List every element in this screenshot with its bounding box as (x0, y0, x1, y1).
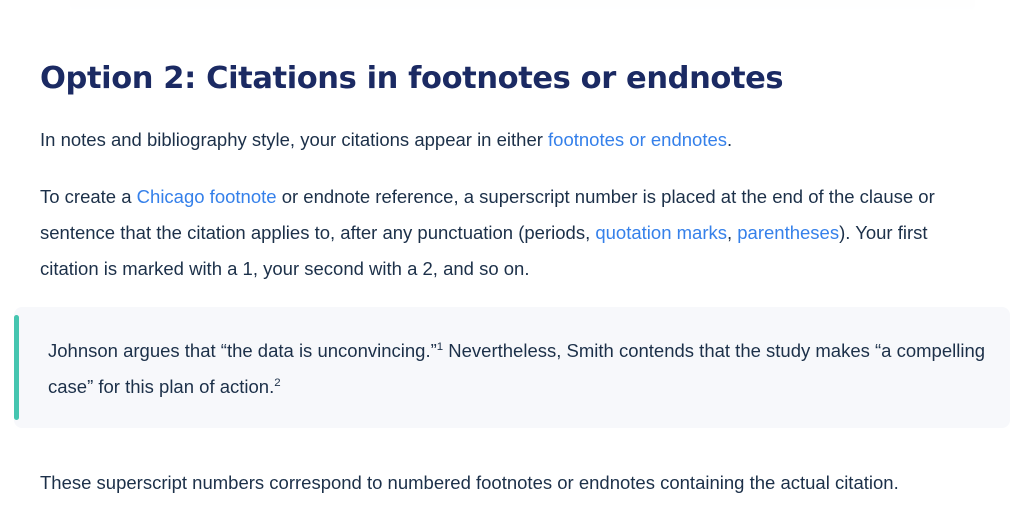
paragraph-how-to: To create a Chicago footnote or endnote … (40, 179, 988, 287)
paragraph-intro-text-1: In notes and bibliography style, your ci… (40, 129, 548, 150)
page-title: Option 2: Citations in footnotes or endn… (40, 58, 783, 100)
paragraph-intro: In notes and bibliography style, your ci… (40, 122, 988, 158)
example-sentence: Johnson argues that “the data is unconvi… (48, 333, 988, 405)
link-footnotes-or-endnotes[interactable]: footnotes or endnotes (548, 129, 727, 150)
example-callout-box: Johnson argues that “the data is unconvi… (14, 307, 1010, 428)
link-quotation-marks[interactable]: quotation marks (595, 222, 727, 243)
paragraph-explanation: These superscript numbers correspond to … (40, 465, 988, 501)
paragraph-how-to-text-3: , (727, 222, 737, 243)
article-section: Option 2: Citations in footnotes or endn… (0, 0, 1024, 531)
accent-bar (14, 315, 19, 420)
paragraph-intro-text-2: . (727, 129, 732, 150)
footnote-marker-2: 2 (274, 377, 280, 389)
link-chicago-footnote[interactable]: Chicago footnote (137, 186, 277, 207)
preceding-block-edge (70, 0, 975, 14)
paragraph-how-to-text-1: To create a (40, 186, 137, 207)
example-text-part-1: Johnson argues that “the data is unconvi… (48, 340, 437, 361)
link-parentheses[interactable]: parentheses (737, 222, 839, 243)
